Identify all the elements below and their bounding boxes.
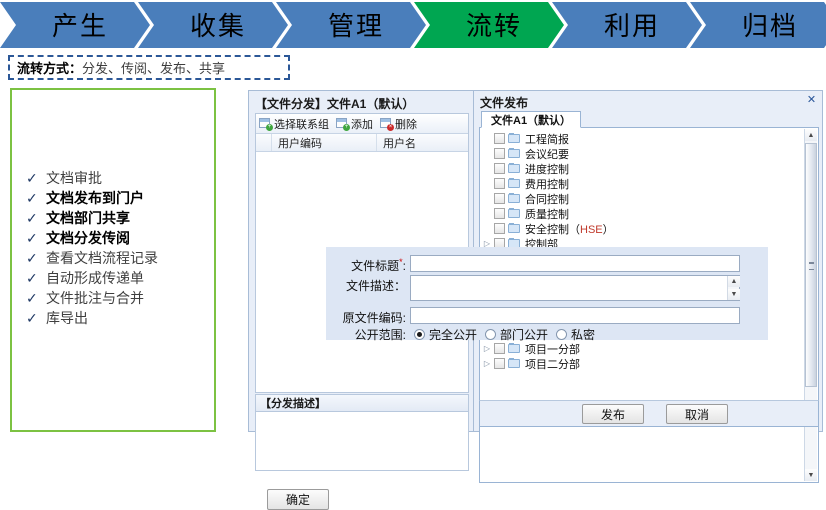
check-icon: ✓ (26, 190, 46, 207)
tree-item[interactable]: 费用控制 (480, 176, 800, 191)
scope-radio-option[interactable]: 部门公开 (485, 326, 548, 343)
feature-item: ✓文档部门共享 (26, 208, 206, 228)
feature-item-label: 库导出 (46, 308, 88, 328)
tree-item[interactable]: 质量控制 (480, 206, 800, 221)
radio-icon[interactable] (556, 329, 567, 340)
feature-item: ✓文件批注与合并 (26, 288, 206, 308)
tree-item[interactable]: 安全控制（HSE） (480, 221, 800, 236)
radio-icon[interactable] (414, 329, 425, 340)
feature-item: ✓查看文档流程记录 (26, 248, 206, 268)
file-distribution-toolbar: +选择联系组+添加×删除 (256, 114, 468, 134)
file-description-input[interactable] (410, 275, 740, 301)
scope-radio-label: 部门公开 (500, 326, 548, 343)
distribution-description-box[interactable] (255, 411, 469, 471)
tree-item-label: 合同控制 (525, 191, 569, 207)
process-step-label: 利用 (604, 6, 660, 45)
folder-icon (508, 343, 521, 354)
file-description-label: 文件描述： (338, 275, 406, 294)
process-step-label: 管理 (328, 6, 384, 45)
tree-item-label: 安全控制（HSE） (525, 221, 614, 237)
tree-item[interactable]: 进度控制 (480, 161, 800, 176)
check-icon: ✓ (26, 290, 46, 307)
tree-checkbox[interactable] (494, 343, 505, 354)
feature-item-label: 查看文档流程记录 (46, 248, 158, 268)
file-publish-footer: 发布 取消 (479, 400, 819, 427)
process-flow-bar: 产生收集管理流转利用归档 (0, 2, 826, 48)
tree-item-label: 项目二分部 (525, 356, 580, 372)
toolbar-button-label: 添加 (351, 116, 373, 132)
distribution-confirm-button[interactable]: 确定 (267, 489, 329, 510)
process-step-label: 归档 (742, 6, 798, 45)
tree-checkbox[interactable] (494, 358, 505, 369)
feature-item-label: 自动形成传递单 (46, 268, 144, 288)
feature-item: ✓自动形成传递单 (26, 268, 206, 288)
expand-arrow-icon[interactable]: ▷ (480, 359, 494, 368)
feature-item: ✓文档分发传阅 (26, 228, 206, 248)
feature-item-label: 文档部门共享 (46, 208, 130, 228)
folder-icon (508, 193, 521, 204)
file-distribution-grid-header: 用户编码 用户名 (256, 134, 468, 152)
tree-checkbox[interactable] (494, 193, 505, 204)
flow-mode-value: 分发、传阅、发布、共享 (82, 58, 225, 77)
tree-checkbox[interactable] (494, 163, 505, 174)
file-description-row: 文件描述： ▲ ▼ (338, 275, 740, 306)
file-publish-tabstrip: 文件A1（默认） (479, 110, 819, 128)
scroll-up-icon[interactable]: ▲ (805, 129, 817, 141)
folder-icon (508, 178, 521, 189)
publish-tree-scrollbar[interactable]: ▲ ▼ (804, 129, 817, 481)
tree-checkbox[interactable] (494, 223, 505, 234)
public-scope-row: 公开范围: 完全公开部门公开私密 (338, 326, 595, 343)
distribution-description-label: 【分发描述】 (255, 394, 469, 411)
select-group-icon: + (259, 118, 272, 130)
tree-item-label: 费用控制 (525, 176, 569, 192)
toolbar-delete[interactable]: ×删除 (380, 116, 417, 132)
description-scrollbar[interactable]: ▲ ▼ (727, 276, 739, 300)
tree-item[interactable]: ▷项目一分部 (480, 341, 800, 356)
process-step-2: 收集 (138, 2, 288, 48)
radio-icon[interactable] (485, 329, 496, 340)
file-title-row: 文件标题*: (338, 255, 740, 274)
toolbar-button-label: 选择联系组 (274, 116, 329, 132)
tree-checkbox[interactable] (494, 178, 505, 189)
original-file-code-input[interactable] (410, 307, 740, 324)
desc-scroll-down-icon[interactable]: ▼ (728, 289, 740, 300)
toolbar-select-group[interactable]: +选择联系组 (259, 116, 329, 132)
process-step-6: 归档 (690, 2, 826, 48)
tree-item-label: 质量控制 (525, 206, 569, 222)
tab-file-a1[interactable]: 文件A1（默认） (481, 111, 581, 128)
feature-item: ✓文档发布到门户 (26, 188, 206, 208)
delete-icon: × (380, 118, 393, 130)
check-icon: ✓ (26, 170, 46, 187)
feature-item-label: 文档发布到门户 (46, 188, 144, 208)
process-step-5: 利用 (552, 2, 702, 48)
file-title-label: 文件标题*: (338, 255, 406, 274)
check-icon: ✓ (26, 310, 46, 327)
original-file-code-row: 原文件编码: (338, 307, 740, 326)
folder-icon (508, 133, 521, 144)
folder-icon (508, 148, 521, 159)
expand-arrow-icon[interactable]: ▷ (480, 344, 494, 353)
scope-radio-label: 私密 (571, 326, 595, 343)
publish-button[interactable]: 发布 (582, 404, 644, 424)
publish-form-dialog: 文件标题*: 文件描述： ▲ ▼ 原文件编码: 公开范围: 完全公开部门公开私密 (326, 247, 768, 340)
check-icon: ✓ (26, 210, 46, 227)
process-step-3: 管理 (276, 2, 426, 48)
feature-item-label: 文档分发传阅 (46, 228, 130, 248)
file-title-input[interactable] (410, 255, 740, 272)
check-icon: ✓ (26, 230, 46, 247)
process-step-1: 产生 (0, 2, 150, 48)
folder-icon (508, 358, 521, 369)
cancel-button[interactable]: 取消 (666, 404, 728, 424)
check-icon: ✓ (26, 250, 46, 267)
public-scope-options: 完全公开部门公开私密 (406, 326, 595, 343)
process-step-4: 流转 (414, 2, 564, 48)
grid-header-user-code: 用户编码 (272, 134, 377, 151)
folder-icon (508, 208, 521, 219)
folder-icon (508, 163, 521, 174)
tree-item-label: 进度控制 (525, 161, 569, 177)
grid-header-user-name: 用户名 (377, 134, 468, 151)
scope-radio-option[interactable]: 完全公开 (414, 326, 477, 343)
flow-mode-note: 流转方式： 分发、传阅、发布、共享 (8, 55, 290, 80)
file-distribution-title: 【文件分发】文件A1（默认） (255, 95, 414, 112)
feature-item-label: 文档审批 (46, 168, 102, 188)
flow-mode-key: 流转方式： (17, 58, 82, 77)
tree-item-label: 工程简报 (525, 131, 569, 147)
tree-item[interactable]: 会议纪要 (480, 146, 800, 161)
file-publish-title: 文件发布 (480, 94, 528, 111)
folder-icon (508, 223, 521, 234)
feature-panel: ✓文档审批✓文档发布到门户✓文档部门共享✓文档分发传阅✓查看文档流程记录✓自动形… (10, 88, 216, 432)
tree-checkbox[interactable] (494, 208, 505, 219)
process-step-label: 流转 (466, 6, 522, 45)
tree-item[interactable]: ▷项目二分部 (480, 356, 800, 371)
add-icon: + (336, 118, 349, 130)
grid-header-select (256, 134, 272, 151)
scroll-down-icon[interactable]: ▼ (805, 469, 817, 481)
tree-checkbox[interactable] (494, 133, 505, 144)
process-step-label: 收集 (190, 6, 246, 45)
toolbar-add[interactable]: +添加 (336, 116, 373, 132)
close-icon[interactable]: ✕ (805, 94, 818, 107)
desc-scroll-up-icon[interactable]: ▲ (728, 276, 740, 287)
scope-radio-option[interactable]: 私密 (556, 326, 595, 343)
tree-checkbox[interactable] (494, 148, 505, 159)
process-step-label: 产生 (52, 6, 108, 45)
check-icon: ✓ (26, 270, 46, 287)
scrollbar-thumb[interactable] (805, 143, 817, 387)
scope-radio-label: 完全公开 (429, 326, 477, 343)
original-file-code-label: 原文件编码: (338, 307, 406, 326)
toolbar-button-label: 删除 (395, 116, 417, 132)
feature-item: ✓库导出 (26, 308, 206, 328)
file-description-wrapper: ▲ ▼ (410, 275, 740, 306)
tree-item[interactable]: 工程简报 (480, 131, 800, 146)
feature-item: ✓文档审批 (26, 168, 206, 188)
feature-list: ✓文档审批✓文档发布到门户✓文档部门共享✓文档分发传阅✓查看文档流程记录✓自动形… (26, 168, 206, 328)
feature-item-label: 文件批注与合并 (46, 288, 144, 308)
tree-item-label: 会议纪要 (525, 146, 569, 162)
tree-item[interactable]: 合同控制 (480, 191, 800, 206)
public-scope-label: 公开范围: (338, 326, 406, 343)
